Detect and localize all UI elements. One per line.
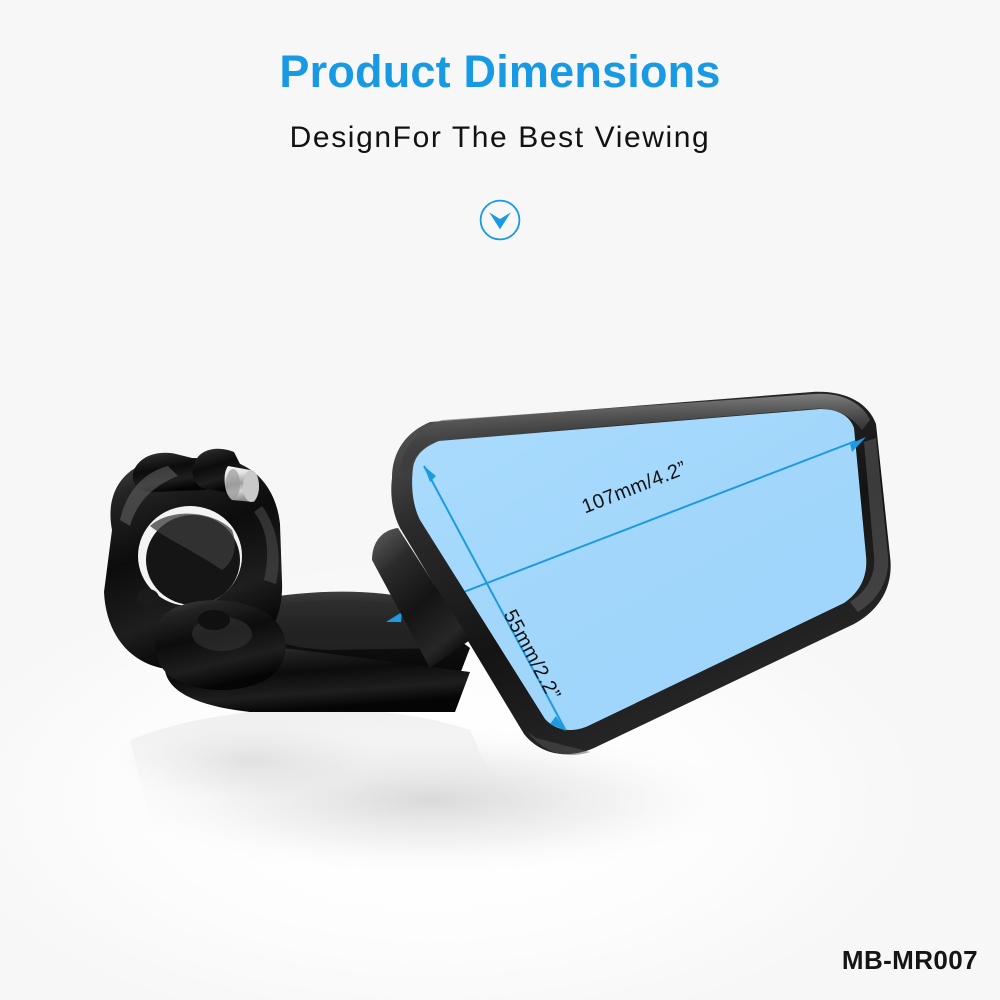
product-illustration [0, 0, 1000, 1000]
product-dimensions-page: Product Dimensions DesignFor The Best Vi… [0, 0, 1000, 1000]
pivot-screw [198, 610, 230, 630]
product-code: MB-MR007 [842, 945, 978, 976]
clamp-bolt [225, 466, 259, 502]
floor-reflection [130, 709, 520, 858]
clamp-screw-boss [137, 589, 159, 607]
product-stage: 107mm/4.2” 55mm/2.2” [0, 0, 1000, 1000]
